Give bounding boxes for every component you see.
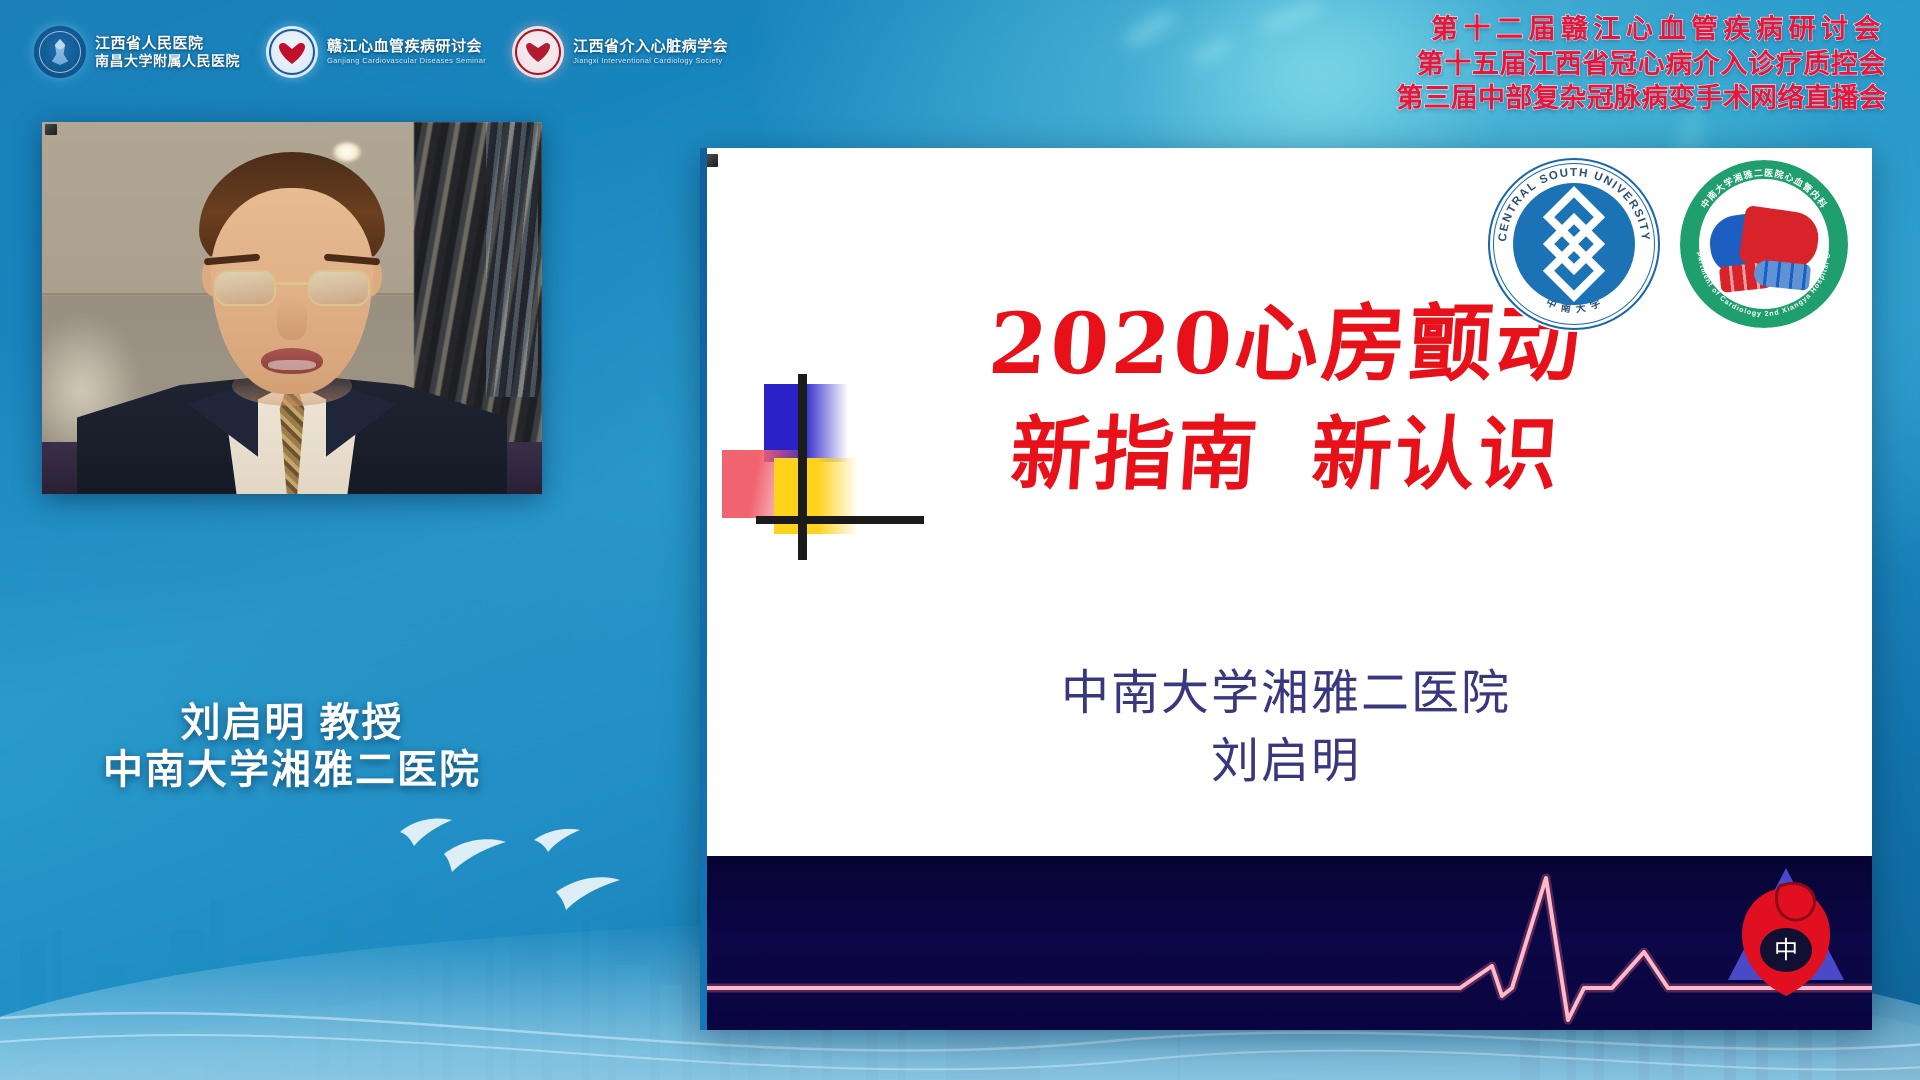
flying-birds-silhouette [400, 819, 620, 911]
speaker-name-overlay: 刘启明 教授 中南大学湘雅二医院 [42, 700, 542, 794]
slide-subtitle-organization: 中南大学湘雅二医院 [700, 660, 1872, 728]
svg-text:中南大学湘雅二医院心血管内科: 中南大学湘雅二医院心血管内科 [1698, 168, 1830, 210]
logo-jiangxi-interventional-cardiology-society: 江西省介入心脏病学会 Jiangxi Interventional Cardio… [512, 26, 728, 78]
ecg-footer-bar: 中 [700, 856, 1872, 1030]
video-corner-marker [45, 124, 57, 135]
logo-cn-line2: 南昌大学附属人民医院 [95, 53, 240, 70]
event-title-block: 第十二届赣江心血管疾病研讨会 第十五届江西省冠心病介入诊疗质控会 第三届中部复杂… [1396, 12, 1886, 116]
hospital-emblem-icon [34, 26, 86, 78]
logo-en-line: Jiangxi Interventional Cardiology Societ… [573, 57, 728, 66]
csu-emblem-core [1513, 183, 1635, 305]
slide-logo-group: CENTRAL SOUTH UNIVERSITY 中 南 大 学 中南大学湘雅二… [1486, 156, 1848, 332]
speaker-name: 刘启明 教授 [42, 700, 542, 747]
window-curtain-highlight [486, 122, 538, 397]
slide-title-line-2: 新指南新认识 [697, 407, 1876, 501]
handshake-mark [1710, 208, 1818, 286]
lens-right [308, 270, 370, 306]
speaker-head [192, 152, 392, 404]
slide-left-edge [700, 148, 707, 1030]
slide-title-line-2b: 新认识 [1309, 407, 1565, 501]
cardiology-society-emblem-icon [512, 26, 564, 78]
glasses-bridge [276, 282, 310, 285]
slide-title-line-2a: 新指南 [1008, 407, 1264, 501]
chin [232, 366, 352, 406]
presentation-slide[interactable]: CENTRAL SOUTH UNIVERSITY 中 南 大 学 中南大学湘雅二… [700, 148, 1872, 1030]
event-title-line-3: 第三届中部复杂冠脉病变手术网络直播会 [1396, 81, 1886, 116]
heart-shield-emblem-icon [266, 26, 318, 78]
lens-left [214, 270, 276, 306]
speaker-video-feed[interactable] [42, 122, 542, 494]
svg-text:中: 中 [1774, 936, 1798, 964]
csu-knot-mark [1516, 186, 1632, 302]
deco-cross-horizontal [756, 516, 924, 524]
central-south-university-logo: CENTRAL SOUTH UNIVERSITY 中 南 大 学 [1486, 156, 1662, 332]
ecg-waveform [700, 856, 1872, 1030]
slide-subtitle-block: 中南大学湘雅二医院 刘启明 [700, 660, 1872, 796]
logo-en-line: Ganjiang Cardiovascular Diseases Seminar [327, 57, 486, 66]
organizer-logo-bar: 江西省人民医院 南昌大学附属人民医院 赣江心血管疾病研讨会 Ganjiang C… [34, 26, 728, 78]
slide-subtitle-name: 刘启明 [700, 728, 1872, 796]
logo-ganjiang-cardiovascular-seminar: 赣江心血管疾病研讨会 Ganjiang Cardiovascular Disea… [266, 26, 486, 78]
event-title-line-2: 第十五届江西省冠心病介入诊疗质控会 [1396, 47, 1886, 82]
nose [277, 300, 307, 340]
event-title-line-1: 第十二届赣江心血管疾病研讨会 [1396, 12, 1886, 47]
logo-cn-line1: 江西省人民医院 [95, 35, 240, 53]
logo-jiangxi-provincial-peoples-hospital: 江西省人民医院 南昌大学附属人民医院 [34, 26, 240, 78]
speaker-organization: 中南大学湘雅二医院 [42, 747, 542, 794]
logo-cn-line1: 江西省介入心脏病学会 [573, 38, 728, 56]
heart-emblem-icon: 中 [1722, 862, 1850, 1006]
logo-cn-line1: 赣江心血管疾病研讨会 [327, 38, 486, 56]
xiangya-second-hospital-cardiology-logo: 中南大学湘雅二医院心血管内科 Department of Cardiology … [1680, 160, 1848, 328]
